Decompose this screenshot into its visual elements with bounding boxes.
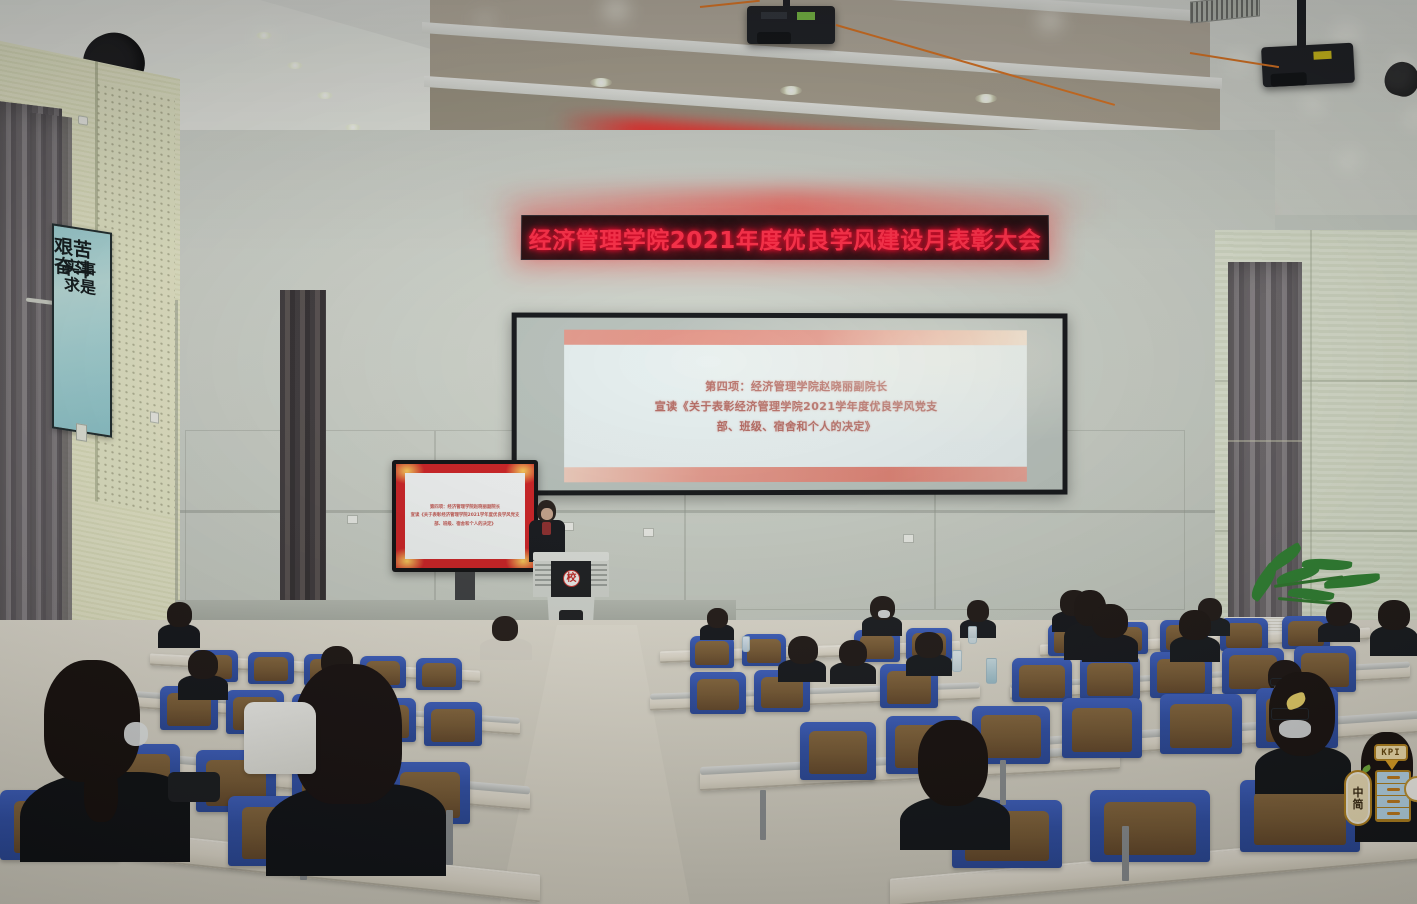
watermark-badge: 中 简 bbox=[1344, 770, 1372, 826]
water-bottle bbox=[742, 636, 750, 652]
audience-person bbox=[906, 632, 952, 676]
ceiling-downlight bbox=[287, 62, 303, 69]
person-head bbox=[1378, 600, 1410, 630]
ceiling-downlight bbox=[590, 78, 612, 87]
seat bbox=[800, 722, 876, 780]
audience-person bbox=[778, 636, 826, 682]
wall-outlet bbox=[347, 515, 358, 524]
audience-person bbox=[1318, 602, 1360, 642]
seat bbox=[1012, 658, 1072, 702]
person-head bbox=[1179, 610, 1211, 640]
person-shoulders bbox=[1370, 626, 1417, 656]
speaker-scarf bbox=[542, 522, 551, 535]
audience-person-foreground-left bbox=[20, 660, 190, 860]
projection-screen-surface: 第四项：经济管理学院赵晓丽副院长 宣读《关于表彰经济管理学院2021学年度优良学… bbox=[517, 318, 1063, 491]
face-mask bbox=[878, 610, 890, 618]
cabinet-drawer bbox=[1377, 796, 1409, 808]
seat-cushion bbox=[695, 641, 728, 665]
seat bbox=[690, 672, 746, 714]
watermark-kpi-label: KPI bbox=[1381, 748, 1400, 758]
person-head bbox=[915, 632, 943, 658]
audience-person bbox=[1082, 604, 1138, 662]
projector-indicator bbox=[1313, 51, 1331, 60]
tv-slide-line-2: 宣读《关于表彰经济管理学院2021学年度优良学风党支 bbox=[411, 513, 520, 518]
podium-vent-right bbox=[591, 564, 607, 586]
tv-slide-line-3: 部、班级、宿舍和个人的决定》 bbox=[434, 522, 495, 527]
audience-person bbox=[700, 608, 734, 640]
ceiling-lamp-glow bbox=[1400, 108, 1417, 127]
person-head bbox=[707, 608, 728, 628]
seat bbox=[1090, 790, 1210, 862]
seat bbox=[1062, 698, 1142, 758]
seat bbox=[1080, 656, 1140, 700]
slide-line-3: 部、班级、宿舍和个人的决定》 bbox=[717, 419, 877, 432]
audience-person-foreground-right-b bbox=[1255, 672, 1351, 794]
seat bbox=[690, 636, 734, 668]
thermos-bottle bbox=[986, 658, 997, 684]
audience-person bbox=[158, 602, 200, 648]
wall-trim-line bbox=[175, 510, 1275, 513]
audience-person bbox=[830, 640, 876, 684]
water-bottle bbox=[968, 626, 977, 644]
projector-indicator bbox=[797, 12, 815, 20]
wall-switch-left bbox=[150, 411, 159, 424]
slide-line-1: 第四项：经济管理学院赵晓丽副院长 bbox=[705, 379, 887, 392]
wall-outlet bbox=[643, 528, 654, 537]
audience-person bbox=[480, 616, 532, 660]
projector-mount-center bbox=[783, 0, 790, 10]
tv-slide-line-1: 第四项：经济管理学院赵晓丽副院长 bbox=[430, 505, 500, 510]
projection-screen-frame: 第四项：经济管理学院赵晓丽副院长 宣读《关于表彰经济管理学院2021学年度优良学… bbox=[512, 313, 1068, 496]
person-ponytail bbox=[84, 764, 118, 822]
plant-leaf bbox=[1324, 573, 1381, 589]
podium-emblem-label: 校 bbox=[567, 574, 577, 584]
podium-top-surface bbox=[533, 552, 609, 561]
water-bottle bbox=[952, 650, 962, 672]
curtain-tieline-right bbox=[1228, 440, 1302, 442]
led-banner-text: 经济管理学院2021年度优良学风建设月表彰大会 bbox=[529, 221, 1042, 255]
ceiling-downlight bbox=[256, 32, 272, 39]
watermark-logo: 中 简 KPI bbox=[1342, 740, 1417, 860]
person-head bbox=[788, 636, 818, 664]
ceiling-lamp-glow bbox=[470, 12, 500, 29]
white-bag bbox=[244, 702, 316, 774]
watermark-arrow-icon bbox=[1385, 760, 1399, 770]
projector-center bbox=[747, 6, 835, 44]
projector-mount-right bbox=[1297, 0, 1306, 48]
person-head bbox=[188, 650, 218, 679]
wall-outlet bbox=[903, 534, 914, 543]
person-head bbox=[1092, 604, 1128, 638]
calligraphy-scroll: 艰苦奋斗 实事求是 bbox=[52, 223, 112, 438]
scroll-column-left: 实事求是 bbox=[64, 257, 110, 300]
seat-cushion bbox=[1072, 708, 1133, 752]
tv-screen: 第四项：经济管理学院赵晓丽副院长 宣读《关于表彰经济管理学院2021学年度优良学… bbox=[396, 464, 534, 568]
seat-cushion bbox=[1104, 802, 1195, 855]
person-head bbox=[44, 660, 140, 782]
tv-slide-content: 第四项：经济管理学院赵晓丽副院长 宣读《关于表彰经济管理学院2021学年度优良学… bbox=[405, 473, 525, 559]
seat-cushion bbox=[747, 639, 780, 663]
presentation-slide: 第四项：经济管理学院赵晓丽副院长 宣读《关于表彰经济管理学院2021学年度优良学… bbox=[564, 330, 1027, 483]
person-head bbox=[918, 720, 988, 806]
seat-cushion bbox=[1157, 659, 1204, 693]
cabinet-drawer bbox=[1377, 772, 1409, 784]
face-mask bbox=[1279, 720, 1311, 738]
seat-cushion bbox=[1019, 665, 1065, 698]
person-shoulders bbox=[480, 638, 532, 660]
ceiling-air-vent-far-right bbox=[1190, 0, 1260, 24]
audience-person bbox=[960, 600, 996, 638]
seat bbox=[1160, 694, 1242, 754]
cabinet-drawer bbox=[1377, 808, 1409, 820]
projector-vent bbox=[761, 12, 787, 19]
audience-person-foreground-right-a bbox=[900, 720, 1010, 850]
desk-leg bbox=[760, 790, 766, 840]
led-banner: 经济管理学院2021年度优良学风建设月表彰大会 bbox=[521, 215, 1050, 260]
desk-leg bbox=[1122, 826, 1129, 881]
watermark-badge-char-bottom: 简 bbox=[1353, 799, 1364, 810]
audience-person bbox=[1170, 610, 1220, 662]
ceiling-lamp-glow bbox=[1030, 8, 1070, 32]
podium-vent-left bbox=[535, 564, 551, 586]
ceiling-downlight bbox=[780, 86, 802, 95]
seat-cushion bbox=[1087, 663, 1133, 696]
person-head bbox=[967, 600, 989, 622]
projector-lens bbox=[757, 32, 791, 44]
person-head bbox=[167, 602, 192, 627]
speaker-face bbox=[541, 508, 553, 520]
seat-cushion bbox=[1226, 623, 1262, 647]
audience-person bbox=[1370, 600, 1417, 656]
slide-line-2: 宣读《关于表彰经济管理学院2021学年度优良学风党支 bbox=[655, 399, 938, 412]
person-head bbox=[839, 640, 867, 666]
ceiling-lamp-glow bbox=[1335, 152, 1363, 168]
slide-bottom-band bbox=[564, 467, 1027, 483]
seat-cushion bbox=[1170, 704, 1232, 748]
ceiling-lamp-glow bbox=[1298, 96, 1328, 113]
ceiling-downlight bbox=[317, 92, 333, 99]
tv-monitor: 第四项：经济管理学院赵晓丽副院长 宣读《关于表彰经济管理学院2021学年度优良学… bbox=[392, 460, 538, 572]
desk-leg bbox=[446, 810, 453, 865]
seat-cushion bbox=[697, 679, 740, 710]
wall-sensor bbox=[78, 115, 88, 126]
person-shoulders bbox=[1082, 634, 1138, 662]
person-head bbox=[492, 616, 518, 641]
person-shoulders bbox=[158, 624, 200, 648]
seat-cushion bbox=[1254, 792, 1345, 845]
curtain-stage-left bbox=[280, 290, 326, 640]
slide-top-band bbox=[564, 330, 1027, 346]
audience-person bbox=[862, 596, 902, 636]
seat-cushion bbox=[809, 731, 867, 774]
person-head bbox=[1326, 602, 1352, 626]
scroll-mount-clip bbox=[76, 423, 87, 442]
podium-school-emblem: 校 bbox=[563, 570, 580, 587]
watermark-badge-char-top: 中 bbox=[1353, 787, 1364, 798]
slide-body: 第四项：经济管理学院赵晓丽副院长 宣读《关于表彰经济管理学院2021学年度优良学… bbox=[564, 345, 1027, 468]
projector-lens bbox=[1270, 72, 1307, 87]
ceiling-downlight bbox=[975, 94, 997, 103]
wall-corner-seam bbox=[175, 300, 178, 640]
lecture-hall-photo: 艰苦奋斗 实事求是 经济管理学院2021年度优良学风建设月表彰大会 第四项：经济… bbox=[0, 0, 1417, 904]
face-mask bbox=[124, 722, 148, 746]
dark-pouch bbox=[168, 772, 220, 802]
watermark-kpi-tag: KPI bbox=[1374, 744, 1408, 761]
